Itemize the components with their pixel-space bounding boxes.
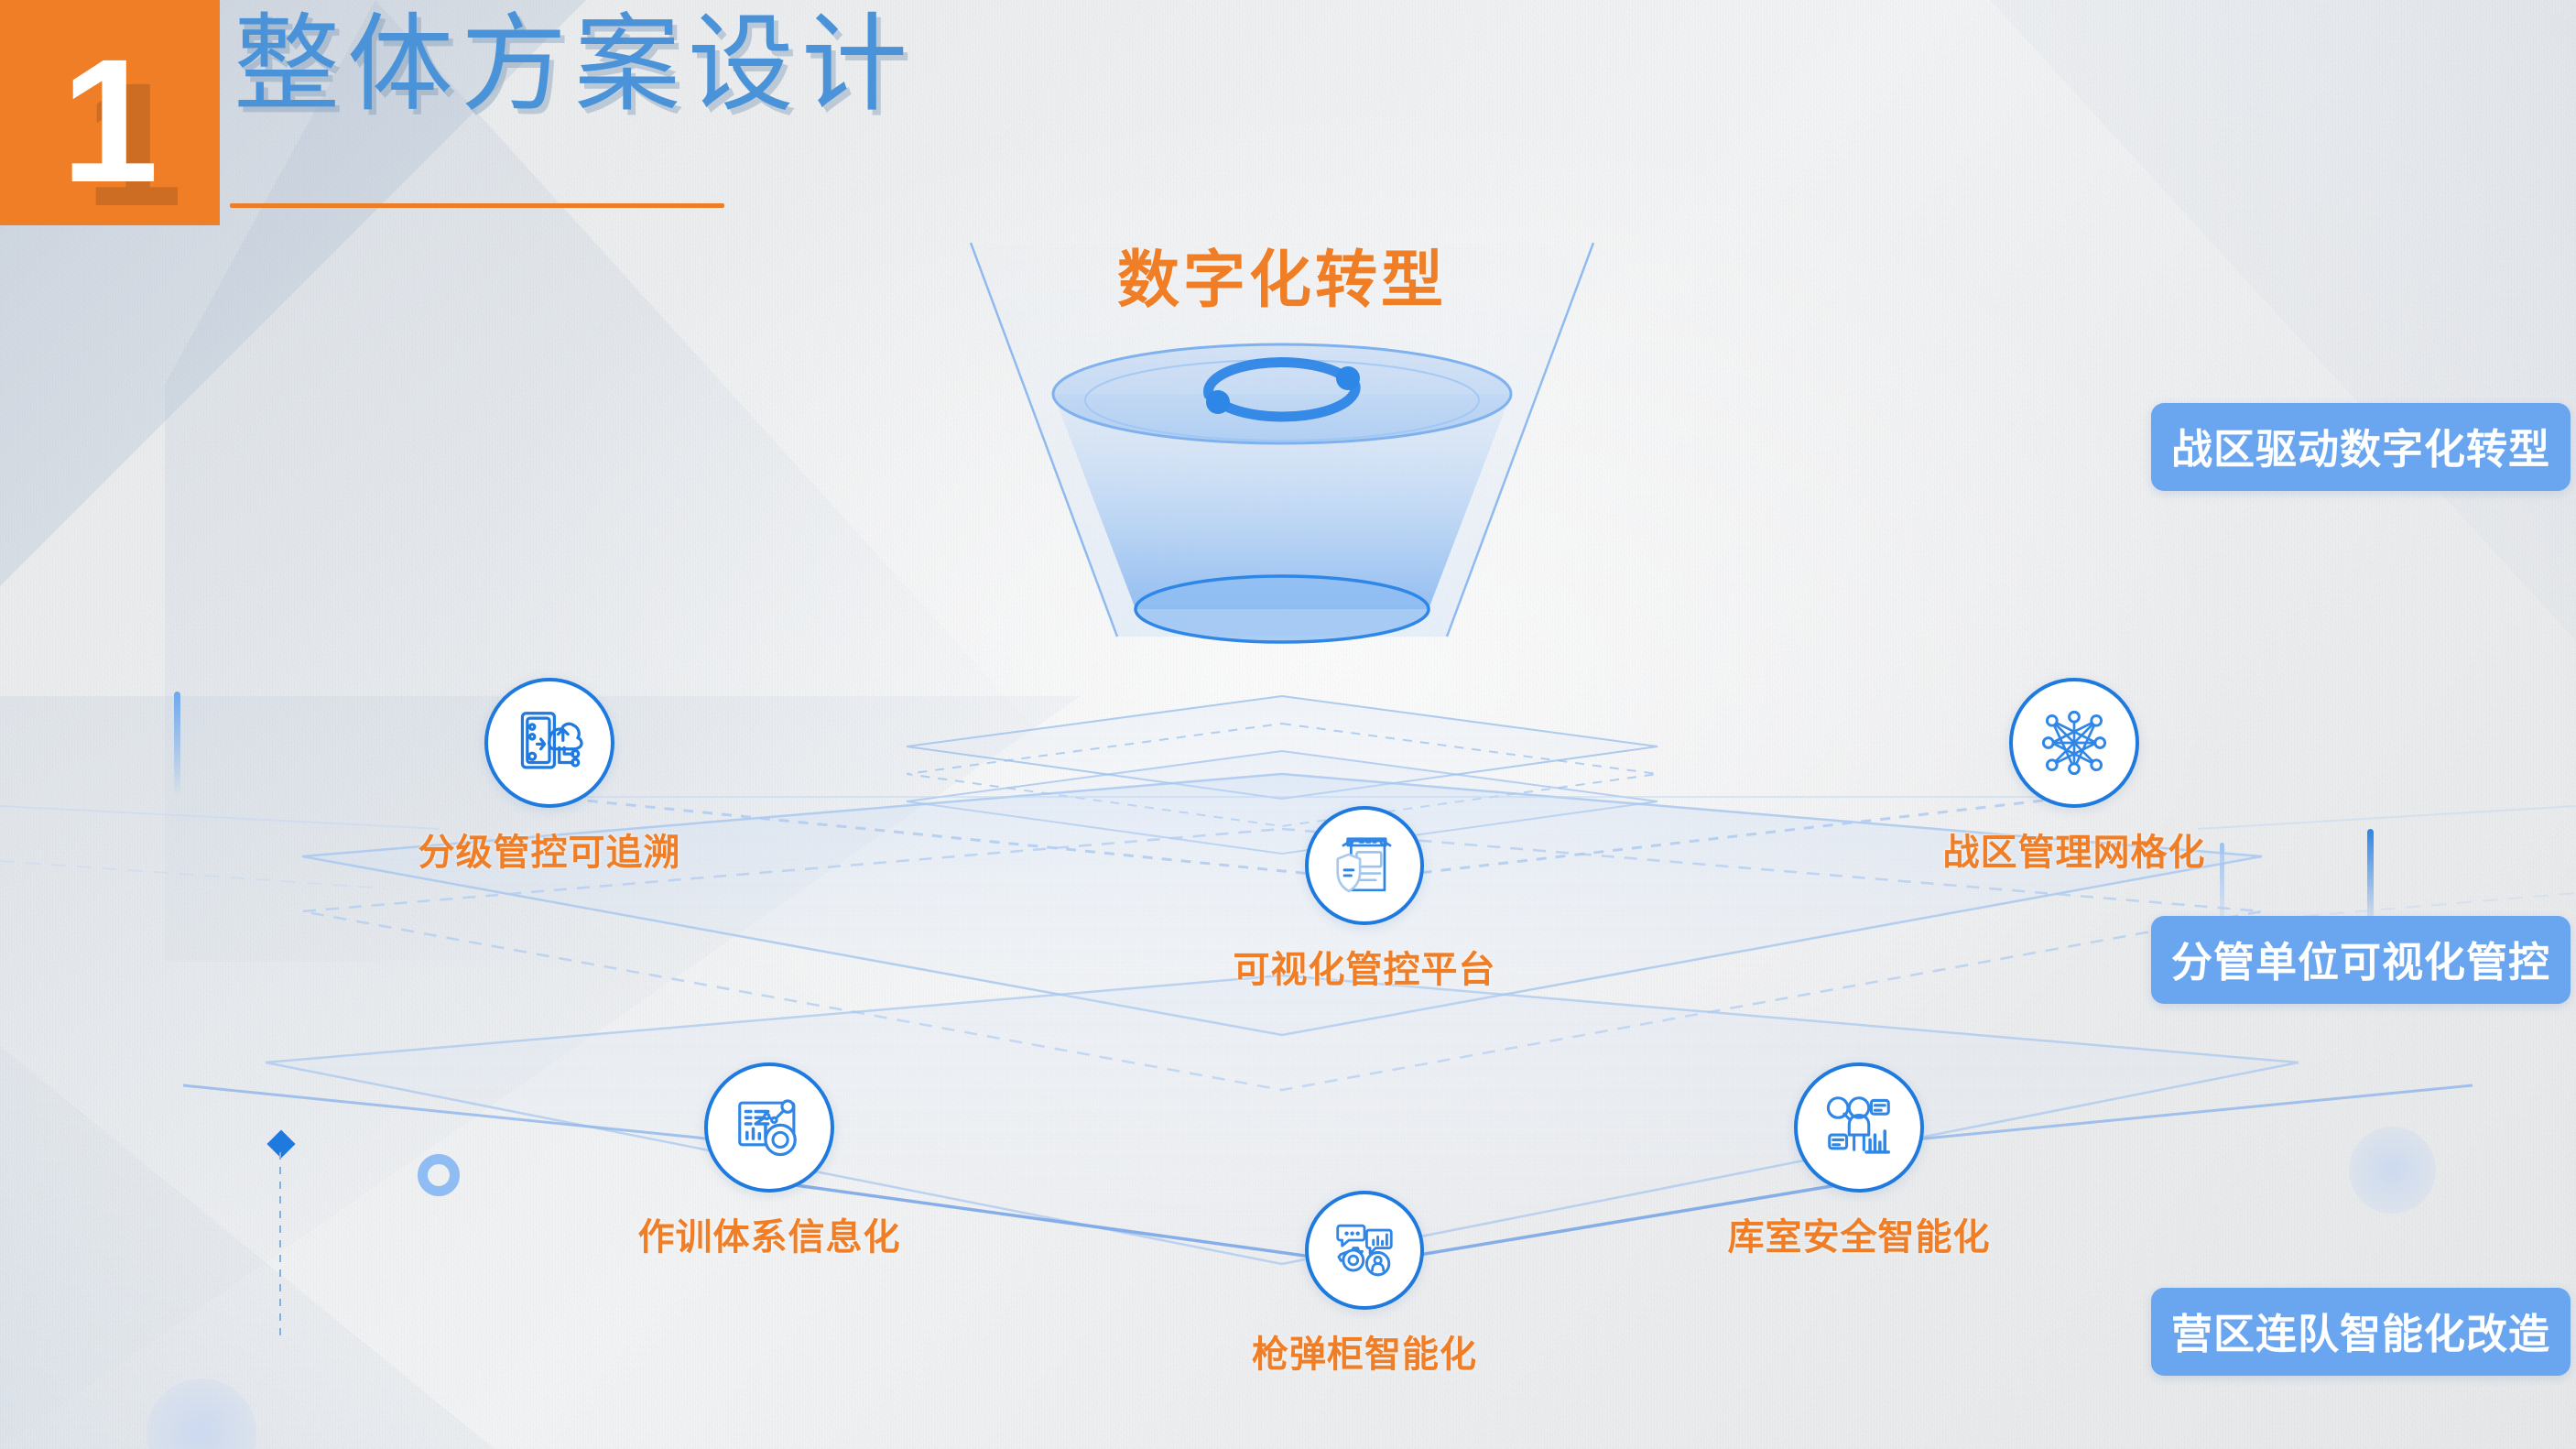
badge-unit-visual-control[interactable]: 分管单位可视化管控 (2151, 916, 2571, 1004)
node-label: 作训体系信息化 (623, 1207, 916, 1260)
node-icon-circle[interactable] (704, 1062, 834, 1193)
node-icon-circle[interactable] (1305, 806, 1424, 925)
section-number-badge: 1 (0, 0, 220, 225)
page-title-group: 整体方案设计 (224, 0, 1415, 229)
node-label: 可视化管控平台 (1218, 940, 1511, 993)
node-graded-control-traceable[interactable]: 分级管控可追溯 (403, 678, 696, 876)
node-label: 分级管控可追溯 (403, 823, 696, 876)
slide-canvas: 1 整体方案设计 (0, 0, 2576, 1449)
cone-label: 数字化转型 (861, 229, 1703, 320)
mobile-cloud-upload-icon (510, 703, 589, 782)
node-gun-ammo-cabinet-intelligence[interactable]: 枪弹柜智能化 (1218, 1191, 1511, 1378)
page-title: 整体方案设计 (234, 7, 915, 122)
title-underline (230, 203, 724, 208)
node-visual-control-platform[interactable]: 可视化管控平台 (1218, 806, 1511, 993)
node-theater-grid-management[interactable]: 战区管理网格化 (1928, 678, 2221, 876)
node-label: 战区管理网格化 (1928, 823, 2221, 876)
decorative-blob-right (2349, 1127, 2436, 1214)
node-icon-circle[interactable] (484, 678, 614, 808)
sync-refresh-icon (1206, 363, 1360, 417)
background-wedge-bottom-left (0, 936, 568, 1449)
cone-graphic (861, 206, 1703, 783)
badge-camp-company-upgrade[interactable]: 营区连队智能化改造 (2151, 1288, 2571, 1376)
badge-theater-driven-transformation[interactable]: 战区驱动数字化转型 (2151, 403, 2571, 491)
person-analytics-icon (1820, 1088, 1898, 1167)
node-training-system-informatization[interactable]: 作训体系信息化 (623, 1062, 916, 1260)
shield-document-icon (1329, 830, 1400, 901)
decorative-diamond-marker (266, 1129, 295, 1158)
node-label: 库室安全智能化 (1712, 1207, 2005, 1260)
network-mesh-icon (2035, 703, 2114, 782)
node-icon-circle[interactable] (1794, 1062, 1924, 1193)
analytics-dashboard-icon (730, 1088, 809, 1167)
decorative-dashed-drop-line (279, 1152, 281, 1335)
digital-transformation-cone: 数字化转型 (861, 206, 1703, 783)
node-label: 枪弹柜智能化 (1218, 1324, 1511, 1378)
node-icon-circle[interactable] (2009, 678, 2139, 808)
decorative-blob-bottom-left (147, 1378, 256, 1449)
gear-chat-person-icon (1329, 1215, 1400, 1286)
decorative-ring (418, 1154, 460, 1196)
decorative-vertical-line-right (2367, 829, 2374, 930)
node-storeroom-safety-intelligence[interactable]: 库室安全智能化 (1712, 1062, 2005, 1260)
decorative-vertical-line-left (174, 692, 180, 797)
node-icon-circle[interactable] (1305, 1191, 1424, 1310)
section-number: 1 (0, 33, 220, 209)
